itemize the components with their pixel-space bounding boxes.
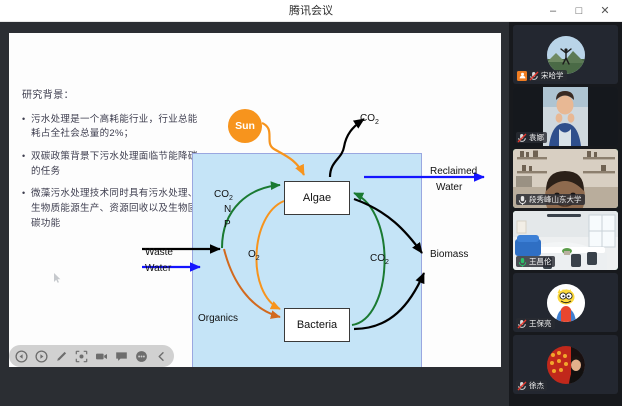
- participant-name: 段秀峰山东大学: [529, 194, 582, 205]
- slideshow-view-icon[interactable]: [95, 350, 108, 363]
- oxygen-label-sub: 2: [256, 255, 260, 262]
- participant-tile[interactable]: 王昌伦: [513, 211, 618, 270]
- algae-node: Algae: [284, 181, 350, 215]
- tencent-meeting-window: 腾讯会议 – □ ✕ 研究背景： • 污水处理是一个高耗能行业，行业总能耗占全社…: [0, 0, 622, 406]
- host-badge-icon: [517, 71, 527, 81]
- oxygen-label: O2: [248, 249, 260, 262]
- organics-label: Organics: [198, 313, 238, 324]
- laser-pointer-icon[interactable]: [75, 350, 88, 363]
- slide-bullet: • 微藻污水处理技术同时具有污水处理、生物质能源生产、资源回收以及生物固碳功能: [22, 187, 202, 231]
- co2-cycle-label: CO2: [370, 253, 389, 266]
- collapse-toolbar-icon[interactable]: [155, 350, 168, 363]
- avatar-image-mountain-photo: [547, 36, 585, 74]
- avatar-image-cartoon-bart: [547, 284, 585, 322]
- microphone-on-icon: [517, 257, 527, 267]
- presentation-toolbar[interactable]: [9, 345, 174, 367]
- minimize-button[interactable]: –: [540, 0, 566, 22]
- participant-nameplate: 徐杰: [516, 380, 547, 391]
- shared-screen-stage[interactable]: 研究背景： • 污水处理是一个高耗能行业，行业总能耗占全社会总量的2%； • 双…: [0, 22, 509, 406]
- nutrient-co2-label-sub: 2: [229, 195, 233, 202]
- maximize-button[interactable]: □: [566, 0, 592, 22]
- slide-bullet: • 污水处理是一个高耗能行业，行业总能耗占全社会总量的2%；: [22, 113, 202, 142]
- participant-nameplate: 王保亮: [516, 318, 555, 329]
- bacteria-node: Bacteria: [284, 308, 350, 342]
- participant-tile[interactable]: 宋哈学: [513, 25, 618, 84]
- microphone-on-icon: [517, 195, 527, 205]
- previous-slide-icon[interactable]: [15, 350, 28, 363]
- bacteria-node-label: Bacteria: [297, 319, 337, 331]
- speaker-notes-icon[interactable]: [115, 350, 128, 363]
- algae-node-label: Algae: [303, 192, 331, 204]
- participant-name: 袁娜: [529, 132, 544, 143]
- window-titlebar: 腾讯会议 – □ ✕: [0, 0, 622, 22]
- water-label: Water: [145, 263, 171, 274]
- participant-rail[interactable]: 宋哈学: [509, 22, 622, 406]
- participant-nameplate: 王昌伦: [516, 256, 555, 267]
- biomass-label: Biomass: [430, 249, 468, 260]
- bullet-marker: •: [22, 187, 31, 231]
- presentation-slide: 研究背景： • 污水处理是一个高耗能行业，行业总能耗占全社会总量的2%； • 双…: [9, 33, 501, 367]
- bullet-text: 双碳政策背景下污水处理面临节能降碳的任务: [31, 150, 202, 179]
- microphone-muted-icon: [517, 133, 527, 143]
- bullet-marker: •: [22, 150, 31, 179]
- participant-name: 徐杰: [529, 380, 544, 391]
- slide-heading: 研究背景：: [22, 88, 202, 104]
- nutrient-co2-label-text: CO: [214, 189, 229, 200]
- window-title: 腾讯会议: [0, 0, 622, 22]
- participant-name: 王保亮: [529, 318, 552, 329]
- sun-node: Sun: [228, 109, 262, 143]
- participant-tile[interactable]: 徐杰: [513, 335, 618, 394]
- bullet-text: 污水处理是一个高耗能行业，行业总能耗占全社会总量的2%；: [31, 113, 202, 142]
- co2-cycle-label-text: CO: [370, 253, 385, 264]
- participant-name: 宋哈学: [541, 70, 564, 81]
- avatar-image-red-photo: [547, 346, 585, 384]
- algae-bacteria-cycle-diagram: Sun Algae Bacteria CO2 CO2 N P: [192, 153, 422, 367]
- participant-nameplate: 宋哈学: [516, 70, 567, 81]
- pen-icon[interactable]: [55, 350, 68, 363]
- slide-text-block: 研究背景： • 污水处理是一个高耗能行业，行业总能耗占全社会总量的2%； • 双…: [22, 88, 202, 240]
- slide-bullet: • 双碳政策背景下污水处理面临节能降碳的任务: [22, 150, 202, 179]
- reclaimed-water-label: Water: [436, 182, 462, 193]
- participant-nameplate: 段秀峰山东大学: [516, 194, 585, 205]
- waste-label: Waste: [145, 247, 173, 258]
- close-button[interactable]: ✕: [592, 0, 618, 22]
- microphone-muted-icon: [529, 71, 539, 81]
- oxygen-label-text: O: [248, 249, 256, 260]
- co2-exhaust-label: CO2: [360, 113, 379, 126]
- co2-exhaust-label-text: CO: [360, 113, 375, 124]
- co2-cycle-label-sub: 2: [385, 259, 389, 266]
- bullet-text: 微藻污水处理技术同时具有污水处理、生物质能源生产、资源回收以及生物固碳功能: [31, 187, 202, 231]
- co2-exhaust-label-sub: 2: [375, 119, 379, 126]
- bullet-marker: •: [22, 113, 31, 142]
- participant-tile[interactable]: 段秀峰山东大学: [513, 149, 618, 208]
- reclaimed-label: Reclaimed: [430, 166, 477, 177]
- nutrient-p-label: P: [224, 219, 231, 230]
- participant-tile[interactable]: 袁娜: [513, 87, 618, 146]
- participant-name: 王昌伦: [529, 256, 552, 267]
- participant-tile[interactable]: 王保亮: [513, 273, 618, 332]
- nutrient-n-label: N: [224, 204, 231, 215]
- mouse-cursor-icon: [54, 273, 61, 283]
- microphone-muted-icon: [517, 319, 527, 329]
- next-slide-icon[interactable]: [35, 350, 48, 363]
- microphone-muted-icon: [517, 381, 527, 391]
- participant-nameplate: 袁娜: [516, 132, 547, 143]
- nutrient-co2-label: CO2: [214, 189, 233, 202]
- more-options-icon[interactable]: [135, 350, 148, 363]
